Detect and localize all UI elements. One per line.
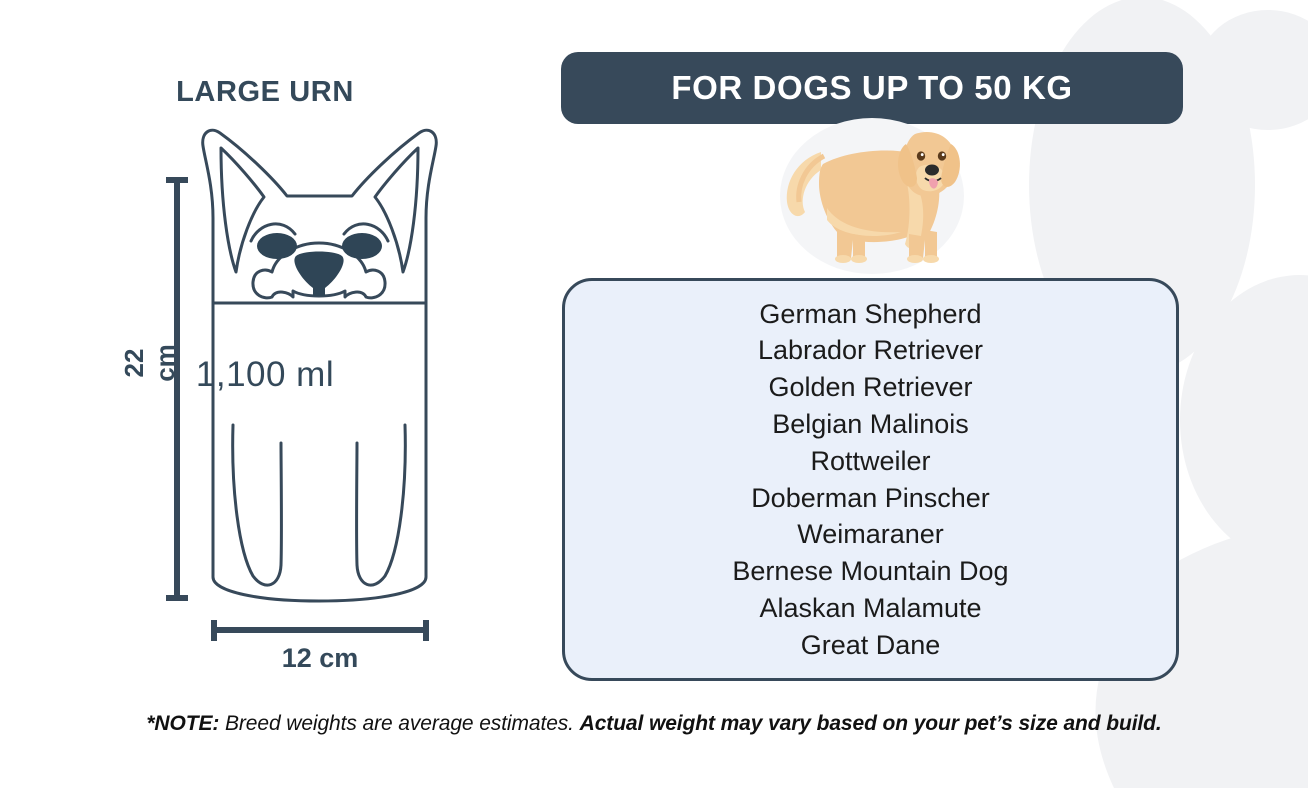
paw-blob-icon — [1198, 10, 1308, 130]
footer-note: *NOTE: Breed weights are average estimat… — [0, 712, 1308, 736]
breed-list-item: Rottweiler — [810, 443, 930, 480]
urn-nose — [294, 252, 343, 297]
dog-eye-left — [917, 151, 925, 160]
urn-volume-label: 1,100 ml — [0, 355, 530, 395]
breed-list-item: Weimaraner — [797, 516, 944, 553]
footer-note-prefix: *NOTE: — [146, 712, 219, 735]
breed-list-item: Doberman Pinscher — [751, 480, 990, 517]
urn-eye-right — [342, 233, 382, 259]
footer-note-emphasis: Actual weight may vary based on your pet… — [580, 712, 1162, 735]
footer-note-middle: Breed weights are average estimates. — [219, 712, 579, 735]
weight-range-banner: FOR DOGS UP TO 50 KG — [561, 52, 1183, 124]
urn-width-label: 12 cm — [190, 643, 450, 674]
breed-list-item: Alaskan Malamute — [759, 590, 981, 627]
breed-list-item: Great Dane — [801, 627, 941, 664]
width-dimension-line — [214, 620, 426, 641]
golden-retriever-icon — [775, 116, 970, 276]
breed-list-box: German Shepherd Labrador Retriever Golde… — [562, 278, 1179, 681]
urn-panel: LARGE URN — [0, 0, 530, 700]
breed-list-item: German Shepherd — [759, 296, 981, 333]
urn-height-label: 22 cm — [119, 333, 181, 393]
breed-list-item: Bernese Mountain Dog — [732, 553, 1008, 590]
breed-list-item: Belgian Malinois — [772, 406, 969, 443]
dog-urn-illustration — [0, 0, 530, 700]
infographic-page: LARGE URN — [0, 0, 1308, 788]
dog-eye-right — [938, 151, 946, 160]
urn-eye-left — [257, 233, 297, 259]
breed-list-item: Golden Retriever — [768, 369, 972, 406]
breed-list-item: Labrador Retriever — [758, 332, 983, 369]
weight-range-text: FOR DOGS UP TO 50 KG — [671, 69, 1072, 107]
dog-nose — [925, 165, 939, 176]
paw-blob-icon — [1180, 275, 1308, 565]
